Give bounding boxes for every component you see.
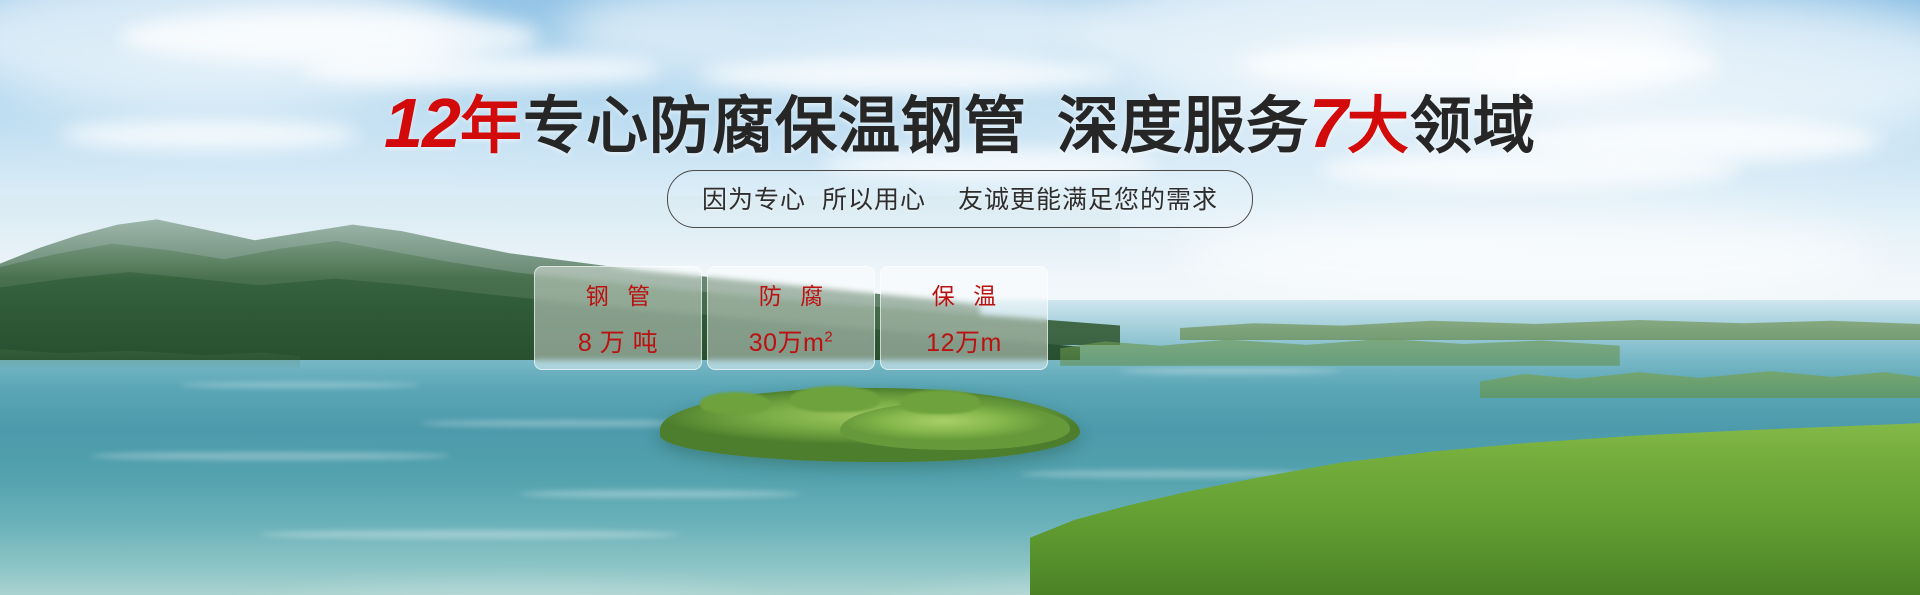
- subtitle-container: 因为专心所以用心友诚更能满足您的需求: [0, 170, 1920, 228]
- stat-value: 30万m2: [749, 323, 833, 359]
- stat-value: 12万m: [926, 323, 1002, 359]
- grass-tuft: [700, 392, 770, 414]
- subtitle-part-1: 因为专心: [702, 186, 806, 214]
- subtitle-part-2: 所以用心: [822, 186, 926, 214]
- stat-value: 8 万 吨: [578, 323, 658, 359]
- water-ripple: [520, 490, 800, 498]
- water-ripple: [1120, 368, 1340, 374]
- water-ripple: [260, 530, 680, 539]
- headline-years-number: 12: [384, 84, 460, 162]
- headline-service-text: 深度服务: [1057, 92, 1309, 161]
- headline-main-text: 专心防腐保温钢管: [523, 92, 1027, 161]
- cloud-shape: [700, 58, 1120, 92]
- stats-card-group: 钢 管 8 万 吨 防 腐 30万m2 保 温 12万m: [534, 266, 1048, 370]
- grass-tuft: [900, 390, 980, 414]
- grass-tuft: [790, 386, 880, 412]
- stat-label: 钢 管: [580, 277, 656, 311]
- stat-label: 防 腐: [753, 277, 829, 311]
- hero-banner: 12年专心防腐保温钢管深度服务7大领域 因为专心所以用心友诚更能满足您的需求 钢…: [0, 0, 1920, 595]
- water-ripple: [180, 382, 420, 388]
- stat-label: 保 温: [926, 277, 1002, 311]
- stat-value-text: 8 万 吨: [578, 329, 658, 357]
- stat-value-unit-sup: 2: [824, 329, 833, 346]
- stat-value-text: 30万m: [749, 329, 825, 357]
- stat-card-insulation[interactable]: 保 温 12万m: [880, 266, 1048, 370]
- headline-fields-unit: 大: [1347, 92, 1410, 161]
- headline-years-unit: 年: [460, 92, 523, 161]
- subtitle-pill: 因为专心所以用心友诚更能满足您的需求: [667, 170, 1253, 228]
- banner-headline: 12年专心防腐保温钢管深度服务7大领域: [0, 88, 1920, 158]
- stat-value-text: 12万m: [926, 329, 1002, 357]
- stat-card-anticorrosion[interactable]: 防 腐 30万m2: [707, 266, 875, 370]
- subtitle-part-3: 友诚更能满足您的需求: [958, 186, 1218, 214]
- headline-fields-text: 领域: [1410, 92, 1536, 161]
- water-ripple: [90, 452, 450, 460]
- headline-fields-number: 7: [1309, 84, 1347, 162]
- stat-card-steel-pipe[interactable]: 钢 管 8 万 吨: [534, 266, 702, 370]
